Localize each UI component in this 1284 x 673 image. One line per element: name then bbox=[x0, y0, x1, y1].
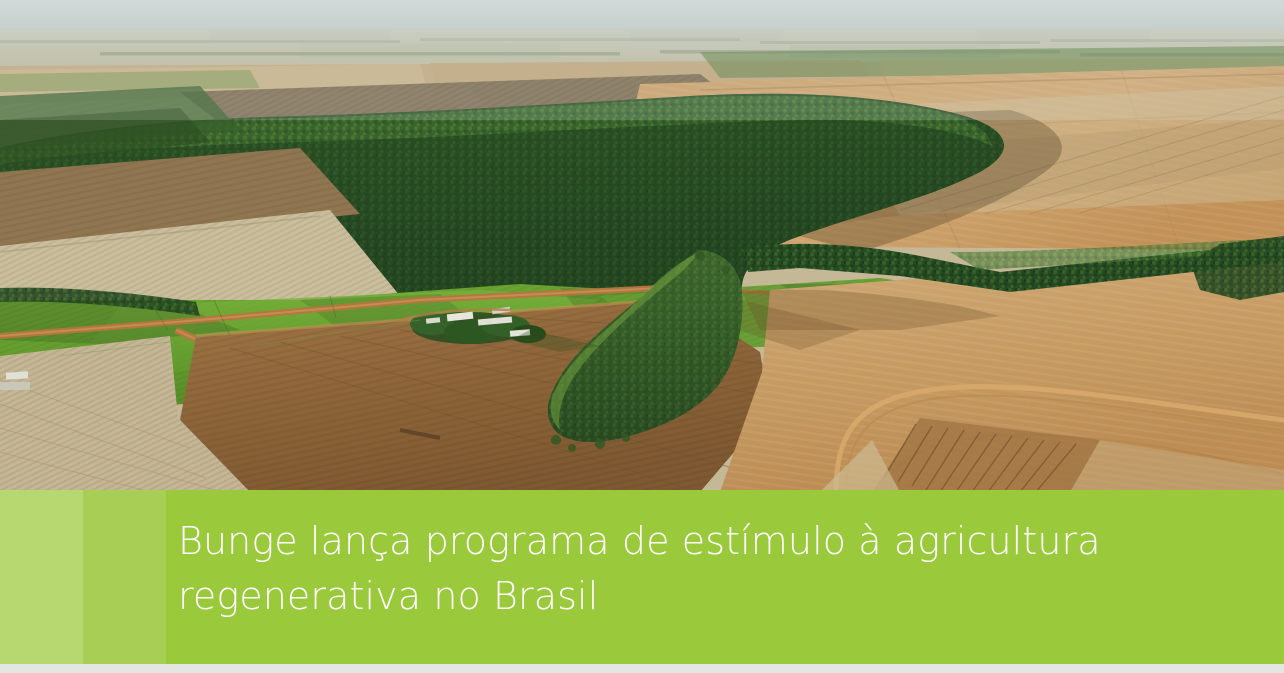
page-root: Bunge lança programa de estímulo à agric… bbox=[0, 0, 1284, 673]
aerial-farmland-illustration bbox=[0, 0, 1284, 492]
page-title: Bunge lança programa de estímulo à agric… bbox=[178, 514, 1178, 624]
footer-strip bbox=[0, 664, 1284, 673]
headline-banner: Bunge lança programa de estímulo à agric… bbox=[0, 490, 1284, 664]
accent-band-light bbox=[0, 490, 83, 664]
accent-band-medium bbox=[83, 490, 166, 664]
hero-photo bbox=[0, 0, 1284, 492]
